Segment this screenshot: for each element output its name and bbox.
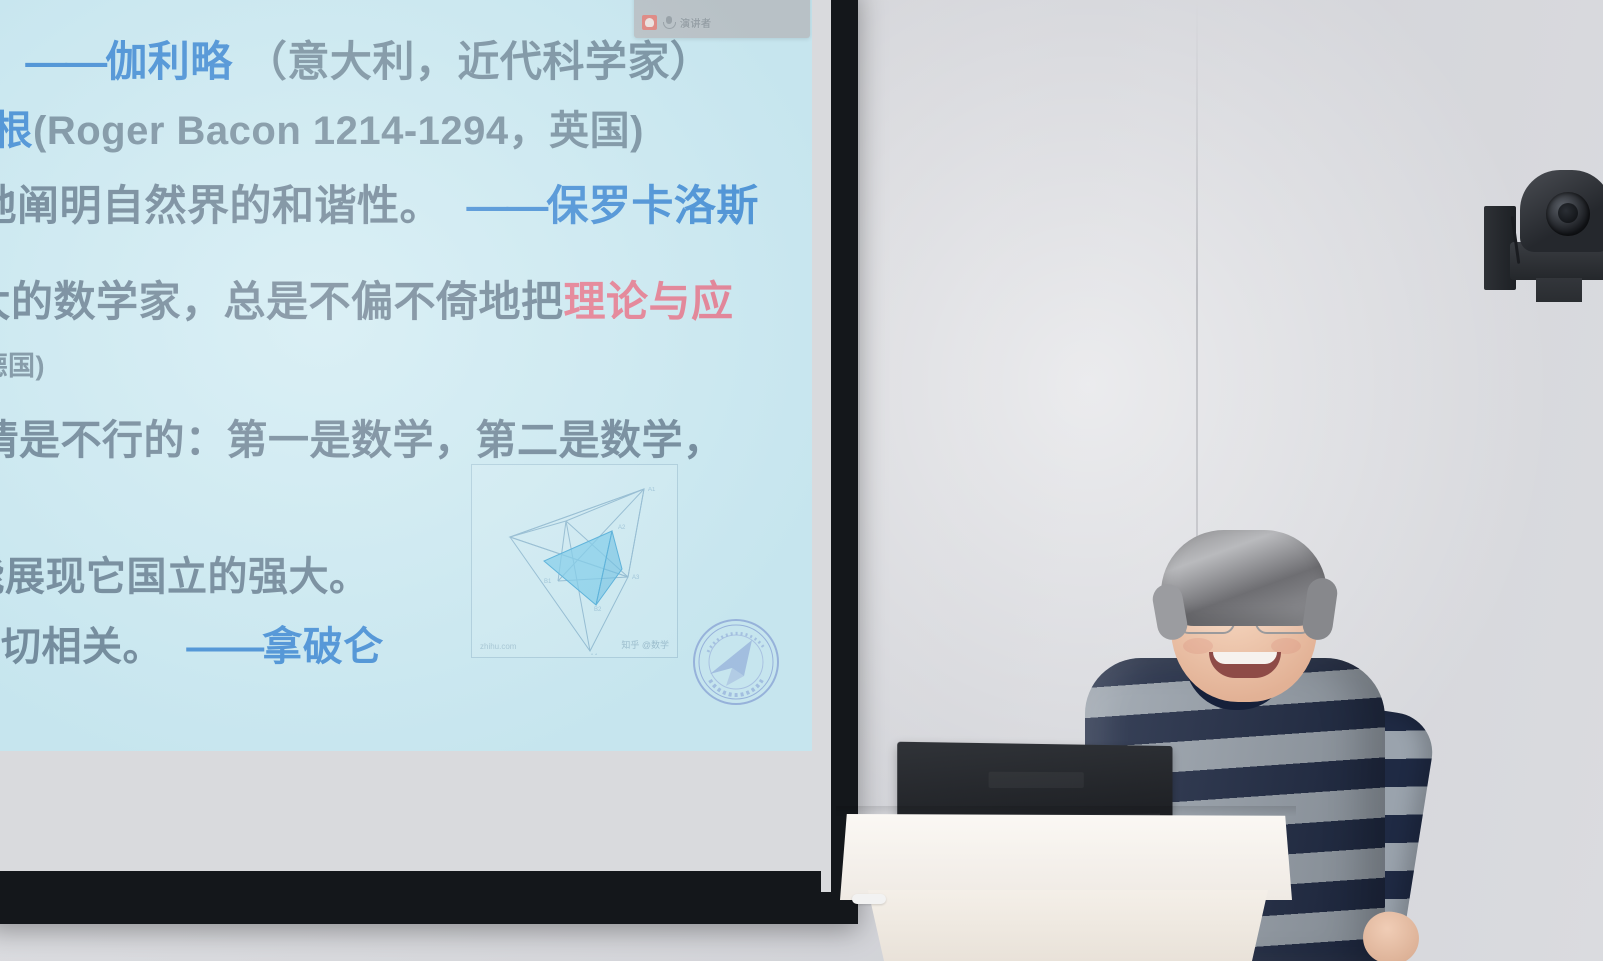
slide-attribution-dash: —— (186, 625, 262, 669)
lectern-body (868, 890, 1268, 961)
svg-text:A3: A3 (632, 575, 640, 581)
svg-text:B2: B2 (594, 607, 602, 613)
slide-text-body: 盛密切相关。 (0, 625, 163, 669)
slide-attribution-note: （意大利，近代科学家） (245, 38, 713, 85)
slide-highlight-text: 理论与应 (564, 278, 734, 325)
camera-mount-stem (1536, 278, 1582, 302)
participant-status-bar: 演讲者 (642, 15, 712, 30)
svg-text:A4: A4 (590, 654, 598, 655)
lectern-top (840, 814, 1292, 900)
university-seal (692, 618, 780, 706)
figure-watermark: zhihu.com (480, 642, 516, 651)
participant-name: 演讲者 (680, 15, 712, 30)
slide-text-body: 新地阐明自然界的和谐性。 (0, 182, 442, 229)
tetrahedron-svg: A1 A2 A3 A4 B1 B2 (472, 465, 675, 655)
participant-tile[interactable]: 演讲者 (634, 0, 810, 38)
slide-attribution-name: 伽利略 (105, 38, 233, 85)
slide-line-bacon: —培根(Roger Bacon 1214-1294，英国) (0, 98, 644, 156)
screen-bottom-edge (0, 871, 821, 892)
slide-text-body: 伟大的数学家，总是不偏不倚地把 (0, 278, 564, 325)
slide-line-math: 事情是不行的：第一是数学，第二是数学， (0, 406, 725, 466)
slide-line-power: 才能展现它国立的强大。 (0, 544, 370, 602)
svg-text:A2: A2 (618, 525, 626, 531)
slide-attribution-name: 拿破仑 (262, 625, 384, 669)
figure-caption: 知乎 @数学 (621, 638, 669, 651)
slide-attribution-dash: —— (25, 38, 105, 85)
slide-attribution-name: 培根 (0, 109, 33, 153)
svg-text:B1: B1 (544, 579, 552, 585)
svg-text:A1: A1 (648, 487, 656, 493)
slide-line-klein: 伟大的数学家，总是不偏不倚地把理论与应 (0, 268, 734, 329)
slide-line-galileo: 的。 ——伽利略 （意大利，近代科学家） (0, 28, 712, 89)
screen-share-icon (642, 15, 657, 30)
slide-attribution-note: (Roger Bacon 1214-1294，英国) (33, 109, 644, 153)
tetrahedron-diagram: A1 A2 A3 A4 B1 B2 知乎 @数学 zhihu.com (471, 464, 678, 658)
slide-line-carus: 新地阐明自然界的和谐性。 ——保罗卡洛斯 (0, 172, 759, 233)
microphone-icon[interactable] (662, 15, 675, 30)
lecture-hall-photo: 的。 ——伽利略 （意大利，近代科学家） —培根(Roger Bacon 121… (0, 0, 1603, 961)
camera-lens (1546, 192, 1590, 236)
projected-slide: 的。 ——伽利略 （意大利，近代科学家） —培根(Roger Bacon 121… (0, 0, 812, 751)
slide-attribution-dash: —— (466, 182, 546, 229)
slide-attribution-name: 保罗卡洛斯 (546, 182, 759, 229)
slide-line-napoleon: 盛密切相关。 ——拿破仑 (0, 614, 384, 672)
projection-screen-frame: 的。 ——伽利略 （意大利，近代科学家） —培根(Roger Bacon 121… (0, 0, 858, 924)
presenter-hair (1161, 530, 1327, 626)
projection-screen-surface: 的。 ——伽利略 （意大利，近代科学家） —培根(Roger Bacon 121… (0, 0, 831, 892)
slide-line-klein-note: ein, 德国) (0, 344, 45, 383)
slide-text-body: 的。 (0, 38, 13, 85)
lectern-side-rail (852, 894, 886, 904)
